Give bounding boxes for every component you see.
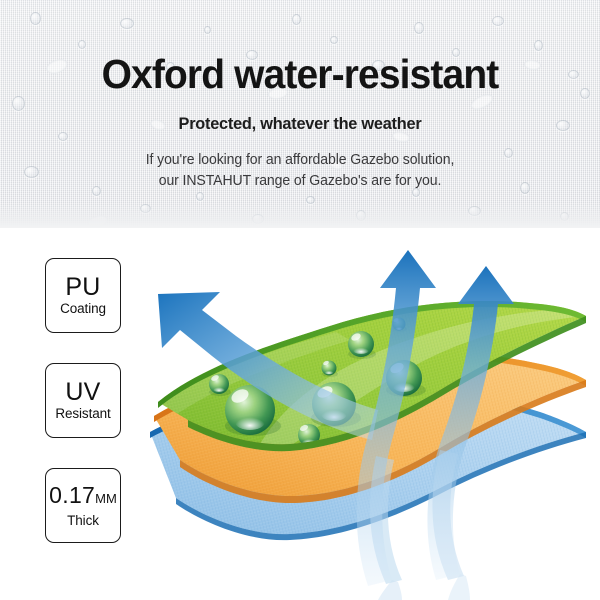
product-infographic: Oxford water-resistant Protected, whatev…: [0, 0, 600, 600]
badge-uv-resistant: UV Resistant: [45, 363, 121, 438]
feature-badge-list: PU Coating UV Resistant 0.17MM Thick: [45, 258, 125, 573]
badge-uv-resistant-sub: Resistant: [55, 406, 110, 422]
fabric-layers-illustration: [140, 244, 600, 600]
badge-uv-resistant-main: UV: [65, 379, 100, 405]
body-line-2: our INSTAHUT range of Gazebo's are for y…: [159, 173, 442, 189]
header-bottom-fade: [0, 202, 600, 228]
badge-thickness-main: 0.17MM: [49, 482, 117, 512]
page-subtitle: Protected, whatever the weather: [12, 113, 588, 135]
badge-pu-coating-sub: Coating: [60, 301, 106, 317]
badge-thickness-value: 0.17: [49, 482, 95, 508]
page-body-text: If you're looking for an affordable Gaze…: [9, 150, 591, 192]
badge-thickness-unit: MM: [95, 491, 117, 506]
badge-thickness-sub: Thick: [67, 513, 99, 529]
body-line-1: If you're looking for an affordable Gaze…: [146, 152, 455, 168]
badge-pu-coating-main: PU: [65, 274, 100, 300]
badge-thickness: 0.17MM Thick: [45, 468, 121, 543]
badge-pu-coating: PU Coating: [45, 258, 121, 333]
header-banner: Oxford water-resistant Protected, whatev…: [0, 0, 600, 228]
page-title: Oxford water-resistant: [15, 52, 585, 96]
